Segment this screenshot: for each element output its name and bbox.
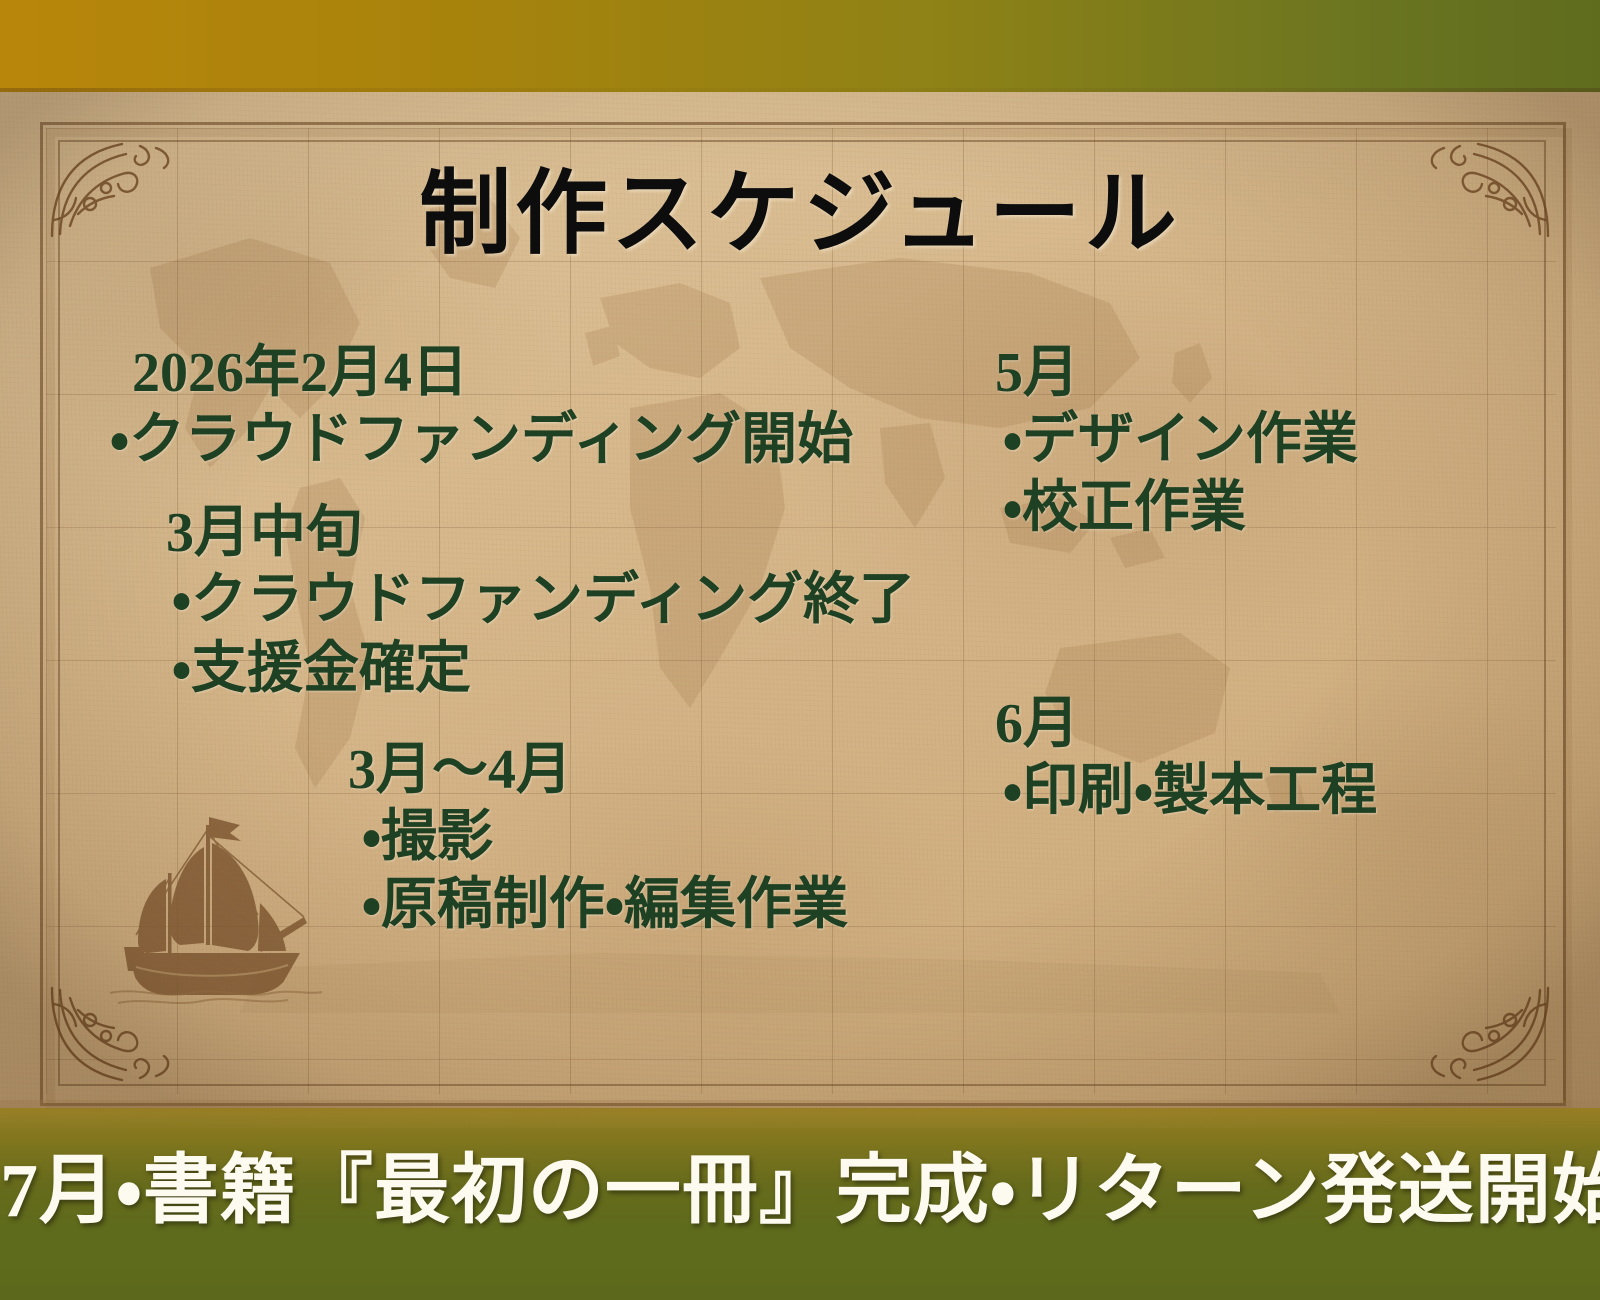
schedule-slide: 制作スケジュール 2026年2月4日 ・クラウドファンディング開始 3月中旬 ・…: [0, 0, 1600, 1300]
schedule-item: ・デザイン作業: [1003, 406, 1585, 474]
schedule-group: 3月中旬 ・クラウドファンディング終了 ・支援金確定: [110, 500, 990, 703]
schedule-period-label: 2026年2月4日: [132, 340, 990, 406]
schedule-group: 5月 ・デザイン作業 ・校正作業: [985, 340, 1585, 543]
schedule-period-label: 6月: [995, 691, 1585, 757]
schedule-item: ・支援金確定: [172, 635, 990, 703]
footer-caption: 7月・書籍『最初の一冊』完成・リターン発送開始: [0, 1152, 1600, 1232]
schedule-item: ・印刷・製本工程: [1003, 757, 1585, 825]
schedule-group: 6月 ・印刷・製本工程: [985, 691, 1585, 825]
schedule-item: ・クラウドファンディング終了: [172, 566, 990, 634]
page-title: 制作スケジュール: [0, 168, 1600, 260]
schedule-columns: 2026年2月4日 ・クラウドファンディング開始 3月中旬 ・クラウドファンディ…: [0, 340, 1600, 1060]
schedule-period-label: 5月: [995, 340, 1585, 406]
schedule-item: ・撮影: [362, 803, 990, 871]
schedule-item: ・校正作業: [1003, 474, 1585, 542]
schedule-item: ・原稿制作・編集作業: [362, 871, 990, 939]
top-gradient-bar: [0, 0, 1600, 92]
schedule-period-label: 3月〜4月: [348, 737, 990, 803]
footer-banner: 7月・書籍『最初の一冊』完成・リターン発送開始: [0, 1108, 1600, 1300]
schedule-left-column: 2026年2月4日 ・クラウドファンディング開始 3月中旬 ・クラウドファンディ…: [110, 340, 990, 962]
schedule-group: 2026年2月4日 ・クラウドファンディング開始: [110, 340, 990, 474]
schedule-right-column: 5月 ・デザイン作業 ・校正作業 6月 ・印刷・製本工程: [985, 340, 1585, 847]
schedule-item: ・クラウドファンディング開始: [110, 406, 990, 474]
schedule-group: 3月〜4月 ・撮影 ・原稿制作・編集作業: [110, 737, 990, 940]
schedule-period-label: 3月中旬: [166, 500, 990, 566]
